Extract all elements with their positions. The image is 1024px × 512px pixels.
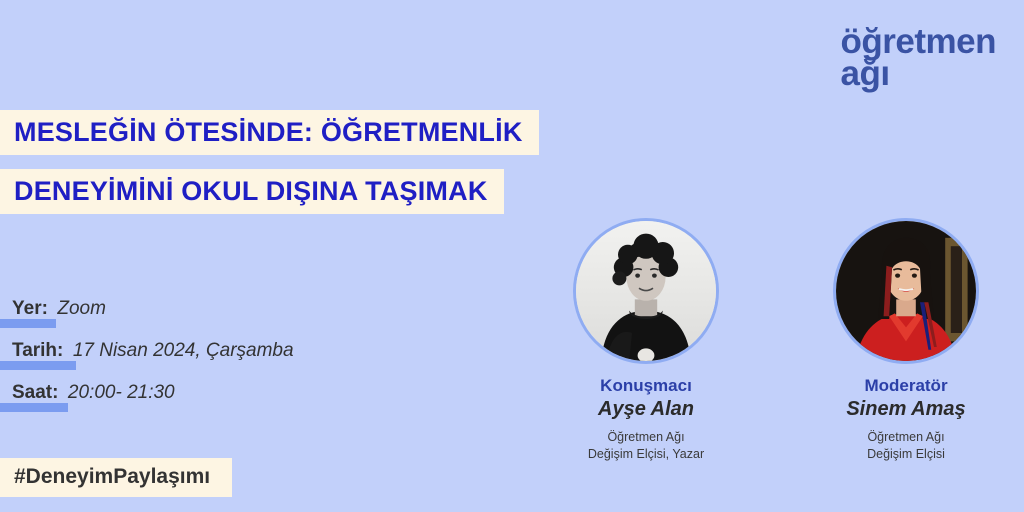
speaker-card-konusmaci: Konuşmacı Ayşe Alan Öğretmen Ağı Değişim… (546, 218, 746, 463)
speaker-affiliation-line-1: Öğretmen Ağı (546, 429, 746, 446)
page-title: MESLEĞİN ÖTESİNDE: ÖĞRETMENLİK DENEYİMİN… (0, 110, 539, 214)
detail-label-time: Saat: (12, 382, 58, 403)
title-line-2: DENEYİMİNİ OKUL DIŞINA TAŞIMAK (0, 169, 504, 214)
ogretmen-agi-logo: öğretmen ağı (841, 26, 996, 90)
logo-line-2: ağı (841, 58, 996, 90)
event-details: Yer: Zoom Tarih: 17 Nisan 2024, Çarşamba… (0, 298, 294, 424)
speaker-portrait-ayse-alan (573, 218, 719, 364)
detail-value-location: Zoom (57, 298, 106, 319)
underline-accent-location (0, 319, 56, 328)
underline-accent-time (0, 403, 68, 412)
detail-label-location: Yer: (12, 298, 48, 319)
moderator-role: Moderatör (806, 376, 1006, 396)
speaker-name: Ayşe Alan (546, 398, 746, 421)
event-poster: öğretmen ağı MESLEĞİN ÖTESİNDE: ÖĞRETMEN… (0, 0, 1024, 512)
detail-value-date: 17 Nisan 2024, Çarşamba (73, 340, 294, 361)
moderator-affiliation: Öğretmen Ağı Değişim Elçisi (806, 429, 1006, 463)
hashtag-badge: #DeneyimPaylaşımı (0, 458, 232, 497)
detail-label-date: Tarih: (12, 340, 63, 361)
moderator-affiliation-line-2: Değişim Elçisi (806, 446, 1006, 463)
detail-row-date: Tarih: 17 Nisan 2024, Çarşamba (0, 340, 294, 366)
speaker-affiliation-line-2: Değişim Elçisi, Yazar (546, 446, 746, 463)
moderator-portrait-sinem-amas (833, 218, 979, 364)
speaker-list: Konuşmacı Ayşe Alan Öğretmen Ağı Değişim… (546, 218, 1006, 463)
moderator-affiliation-line-1: Öğretmen Ağı (806, 429, 1006, 446)
speaker-card-moderator: Moderatör Sinem Amaş Öğretmen Ağı Değişi… (806, 218, 1006, 463)
title-line-1: MESLEĞİN ÖTESİNDE: ÖĞRETMENLİK (0, 110, 539, 155)
detail-row-time: Saat: 20:00- 21:30 (0, 382, 294, 408)
speaker-role: Konuşmacı (546, 376, 746, 396)
speaker-affiliation: Öğretmen Ağı Değişim Elçisi, Yazar (546, 429, 746, 463)
underline-accent-date (0, 361, 76, 370)
moderator-name: Sinem Amaş (806, 398, 1006, 421)
detail-row-location: Yer: Zoom (0, 298, 294, 324)
detail-value-time: 20:00- 21:30 (68, 382, 175, 403)
